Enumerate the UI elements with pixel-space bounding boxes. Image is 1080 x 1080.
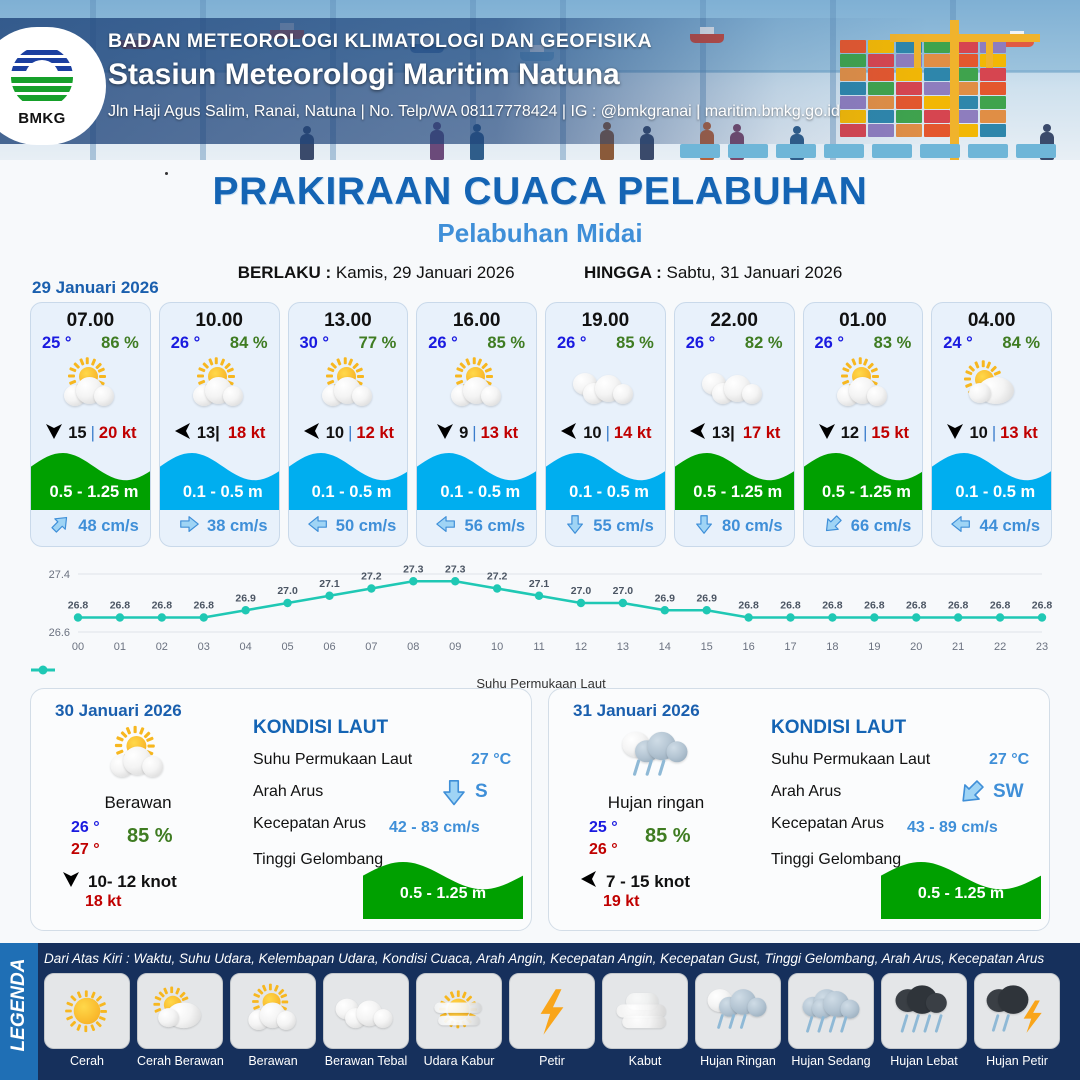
card-current-speed: 44 cm/s (980, 517, 1041, 536)
card-wind-speed: 13| (197, 424, 220, 443)
card-current-row: 66 cm/s (804, 513, 924, 540)
card-weather-icon-slot (160, 355, 279, 417)
day-current-arrow-slot (957, 777, 987, 812)
card-wind-speed: 13| (712, 424, 735, 443)
day-humidity: 85 % (645, 825, 691, 848)
hourly-card[interactable]: 10.0026 °84 %13|18 kt0.1 - 0.5 m38 cm/s (159, 302, 280, 547)
chart-legend-marker (30, 664, 56, 676)
daily-panel-31: 31 Januari 2026Hujan ringan25 °26 °85 %7… (548, 688, 1050, 931)
card-time: 07.00 (31, 310, 150, 332)
card-humidity: 82 % (745, 334, 783, 353)
card-temp-humidity: 26 °84 % (160, 332, 279, 353)
hourly-card[interactable]: 16.0026 °85 %9|13 kt0.1 - 0.5 m56 cm/s (416, 302, 537, 547)
svg-text:27.0: 27.0 (571, 585, 592, 597)
day-sea-label: Arah Arus (771, 783, 841, 801)
hujan-ringan-icon (704, 985, 772, 1036)
wind-direction-w-icon (302, 421, 322, 441)
svg-text:26.8: 26.8 (110, 600, 131, 612)
card-time: 19.00 (546, 310, 665, 332)
svg-text:26.8: 26.8 (822, 600, 843, 612)
bmkg-logo-text: BMKG (18, 110, 65, 127)
wind-direction-s-icon (44, 421, 64, 441)
svg-text:27.2: 27.2 (361, 571, 382, 583)
card-wave-height: 0.5 - 1.25 m (675, 483, 795, 502)
card-wind-speed: 12 (841, 424, 859, 443)
legend-item-label: Hujan Sedang (788, 1054, 874, 1068)
legend-item-label: Berawan Tebal (323, 1054, 409, 1068)
page-subtitle: Pelabuhan Midai (0, 218, 1080, 249)
svg-text:26.9: 26.9 (655, 592, 676, 604)
cerah-berawan-icon (183, 359, 255, 413)
current-direction-s-icon (564, 513, 586, 535)
current-direction-sw-icon (822, 513, 844, 535)
card-current-speed: 56 cm/s (465, 517, 526, 536)
legend-note: Dari Atas Kiri : Waktu, Suhu Udara, Kele… (44, 951, 1044, 966)
card-time: 13.00 (289, 310, 408, 332)
cerah-berawan-icon (441, 359, 513, 413)
current-direction-ne-icon (49, 513, 71, 535)
card-gust-speed: 12 kt (356, 424, 394, 443)
card-wind-row: 10|13 kt (932, 421, 1051, 446)
hourly-date-label: 29 Januari 2026 (32, 278, 159, 298)
card-humidity: 85 % (616, 334, 654, 353)
card-current-row: 56 cm/s (417, 513, 537, 540)
card-humidity: 84 % (1002, 334, 1040, 353)
card-weather-icon-slot (932, 355, 1051, 417)
day-gust-speed: 19 kt (603, 893, 639, 911)
card-wind-separator: | (472, 424, 476, 443)
agency-name: BADAN METEOROLOGI KLIMATOLOGI DAN GEOFIS… (108, 30, 840, 53)
card-wave-height: 0.1 - 0.5 m (932, 483, 1052, 502)
current-direction-sw-icon (957, 777, 987, 807)
card-wind-row: 12|15 kt (804, 421, 923, 446)
legend-section: LEGENDA Dari Atas Kiri : Waktu, Suhu Uda… (0, 943, 1080, 1080)
svg-text:26.6: 26.6 (49, 627, 70, 639)
card-temperature: 26 ° (171, 334, 201, 353)
legend-item: Hujan Ringan (695, 973, 781, 1068)
sea-temperature-chart: 27.426.626.80026.80126.80226.80326.90427… (30, 560, 1052, 680)
legend-item-icon-slot (416, 973, 502, 1049)
card-temperature: 26 ° (428, 334, 458, 353)
svg-text:26.8: 26.8 (948, 600, 969, 612)
card-wind-row: 13|17 kt (675, 421, 794, 446)
card-humidity: 85 % (487, 334, 525, 353)
day-condition: Berawan (53, 793, 223, 813)
wind-direction-w-icon (579, 869, 599, 889)
day-sst-value: 27 °C (989, 751, 1029, 769)
card-current-row: 38 cm/s (160, 513, 280, 540)
title-block: PRAKIRAAN CUACA PELABUHAN Pelabuhan Mida… (0, 170, 1080, 283)
card-wind-arrow-slot (559, 421, 579, 446)
svg-text:21: 21 (952, 641, 964, 653)
day-temp-min: 25 ° (589, 819, 618, 837)
card-wave-height: 0.1 - 0.5 m (289, 483, 409, 502)
card-temp-humidity: 25 °86 % (31, 332, 150, 353)
cerah-berawan-icon (239, 985, 307, 1036)
legend-item: Hujan Lebat (881, 973, 967, 1068)
legend-item: Udara Kabur (416, 973, 502, 1068)
card-temp-humidity: 26 °85 % (417, 332, 536, 353)
berawan-icon (332, 985, 400, 1036)
card-temp-humidity: 30 °77 % (289, 332, 408, 353)
day-sea-title: KONDISI LAUT (253, 717, 388, 739)
card-current-row: 55 cm/s (546, 513, 666, 540)
card-wind-arrow-slot (435, 421, 455, 446)
day-condition: Hujan ringan (571, 793, 741, 813)
card-wind-separator: | (992, 424, 996, 443)
legend-item: Cerah (44, 973, 130, 1068)
card-wind-arrow-slot (688, 421, 708, 446)
hourly-forecast-row: 07.0025 °86 %15|20 kt0.5 - 1.25 m48 cm/s… (30, 302, 1052, 547)
cerah-berawan-icon (100, 728, 176, 785)
legend-item-label: Cerah Berawan (137, 1054, 223, 1068)
card-wave-height: 0.1 - 0.5 m (546, 483, 666, 502)
card-temperature: 26 ° (686, 334, 716, 353)
card-temperature: 24 ° (943, 334, 973, 353)
svg-text:18: 18 (826, 641, 838, 653)
card-wind-speed: 10 (583, 424, 601, 443)
day-sea-label: Arah Arus (253, 783, 323, 801)
header-text-block: BADAN METEOROLOGI KLIMATOLOGI DAN GEOFIS… (108, 30, 840, 121)
card-temperature: 30 ° (300, 334, 330, 353)
wind-direction-s-icon (61, 869, 81, 889)
current-direction-s-icon (693, 513, 715, 535)
day-sea-label: Kecepatan Arus (771, 815, 884, 833)
day-current-speed-value: 43 - 89 cm/s (907, 819, 998, 837)
hourly-card[interactable]: 07.0025 °86 %15|20 kt0.5 - 1.25 m48 cm/s (30, 302, 151, 547)
hourly-card[interactable]: 01.0026 °83 %12|15 kt0.5 - 1.25 m66 cm/s (803, 302, 924, 547)
cerah-berawan-icon (312, 359, 384, 413)
card-current-speed: 38 cm/s (207, 517, 268, 536)
svg-text:15: 15 (701, 641, 713, 653)
day-date: 31 Januari 2026 (573, 701, 700, 721)
svg-text:27.3: 27.3 (445, 563, 466, 575)
day-weather-icon-slot (601, 725, 711, 787)
svg-text:06: 06 (323, 641, 335, 653)
svg-text:05: 05 (281, 641, 293, 653)
card-wind-row: 15|20 kt (31, 421, 150, 446)
svg-text:00: 00 (72, 641, 84, 653)
legend-item-icon-slot (974, 973, 1060, 1049)
kabut-icon (611, 985, 679, 1036)
valid-from-value: Kamis, 29 Januari 2026 (336, 263, 515, 282)
day-wind-row: 10- 12 knot (61, 869, 177, 894)
legend-item-label: Kabut (602, 1054, 688, 1068)
card-gust-speed: 20 kt (99, 424, 137, 443)
card-current-speed: 48 cm/s (78, 517, 139, 536)
hourly-card[interactable]: 19.0026 °85 %10|14 kt0.1 - 0.5 m55 cm/s (545, 302, 666, 547)
card-wave-height: 0.5 - 1.25 m (804, 483, 924, 502)
card-current-speed: 80 cm/s (722, 517, 783, 536)
card-weather-icon-slot (31, 355, 150, 417)
card-humidity: 83 % (874, 334, 912, 353)
day-humidity: 85 % (127, 825, 173, 848)
legend-item-icon-slot (695, 973, 781, 1049)
hujan-sedang-icon (797, 985, 865, 1036)
legend-items-row: CerahCerah BerawanBerawanBerawan TebalUd… (44, 973, 1074, 1068)
wind-direction-s-icon (435, 421, 455, 441)
card-gust-speed: 18 kt (228, 424, 266, 443)
card-wave-height: 0.1 - 0.5 m (160, 483, 280, 502)
day-wind-speed: 7 - 15 knot (606, 872, 690, 892)
station-name: Stasiun Meteorologi Maritim Natuna (108, 58, 840, 92)
legend-item-label: Hujan Ringan (695, 1054, 781, 1068)
bmkg-logo-mark (11, 46, 73, 108)
card-temperature: 26 ° (557, 334, 587, 353)
legend-item-icon-slot (44, 973, 130, 1049)
svg-text:02: 02 (156, 641, 168, 653)
svg-text:27.4: 27.4 (49, 569, 70, 581)
card-wave-height: 0.5 - 1.25 m (31, 483, 151, 502)
svg-text:27.3: 27.3 (403, 563, 424, 575)
daily-panel-30: 30 Januari 2026Berawan26 °27 °85 %10- 12… (30, 688, 532, 931)
berawan-icon (569, 359, 641, 413)
svg-text:07: 07 (365, 641, 377, 653)
card-temp-humidity: 24 °84 % (932, 332, 1051, 353)
current-direction-s-icon (439, 777, 469, 807)
card-current-arrow-slot (950, 513, 972, 540)
card-wind-arrow-slot (945, 421, 965, 446)
card-wind-arrow-slot (44, 421, 64, 446)
legend-item-icon-slot (788, 973, 874, 1049)
day-temp-min: 26 ° (71, 819, 100, 837)
legend-item-icon-slot (509, 973, 595, 1049)
current-direction-w-icon (307, 513, 329, 535)
hourly-card[interactable]: 13.0030 °77 %10|12 kt0.1 - 0.5 m50 cm/s (288, 302, 409, 547)
svg-text:11: 11 (533, 641, 544, 653)
sst-plot: 27.426.626.80026.80126.80226.80326.90427… (30, 560, 1052, 660)
wind-direction-s-icon (945, 421, 965, 441)
svg-text:27.1: 27.1 (529, 578, 550, 590)
page-title: PRAKIRAAN CUACA PELABUHAN (0, 170, 1080, 214)
card-wind-separator: | (348, 424, 352, 443)
legend-item: Cerah Berawan (137, 973, 223, 1068)
card-current-arrow-slot (178, 513, 200, 540)
legend-item-label: Udara Kabur (416, 1054, 502, 1068)
day-wind-speed: 10- 12 knot (88, 872, 177, 892)
svg-text:27.2: 27.2 (487, 571, 508, 583)
svg-text:14: 14 (659, 641, 671, 653)
svg-text:04: 04 (240, 641, 252, 653)
day-wave-height: 0.5 - 1.25 m (881, 885, 1041, 903)
svg-text:26.8: 26.8 (864, 600, 885, 612)
petir-icon (518, 985, 586, 1036)
card-current-speed: 66 cm/s (851, 517, 912, 536)
svg-text:08: 08 (407, 641, 419, 653)
valid-to-value: Sabtu, 31 Januari 2026 (667, 263, 843, 282)
card-weather-icon-slot (804, 355, 923, 417)
legend-item-label: Hujan Petir (974, 1054, 1060, 1068)
day-sst-value: 27 °C (471, 751, 511, 769)
hujan-ringan-icon (618, 728, 694, 785)
card-wind-row: 9|13 kt (417, 421, 536, 446)
legend-item: Petir (509, 973, 595, 1068)
udara-kabur-icon (425, 985, 493, 1036)
card-weather-icon-slot (675, 355, 794, 417)
svg-text:26.8: 26.8 (194, 600, 215, 612)
day-wind-arrow-slot (61, 869, 81, 894)
svg-text:26.8: 26.8 (906, 600, 927, 612)
valid-to-label: HINGGA : (584, 263, 662, 282)
card-weather-icon-slot (546, 355, 665, 417)
card-temperature: 26 ° (815, 334, 845, 353)
card-wind-speed: 15 (68, 424, 86, 443)
card-wind-speed: 9 (459, 424, 468, 443)
card-weather-icon-slot (289, 355, 408, 417)
hujan-lebat-icon (890, 985, 958, 1036)
card-current-arrow-slot (49, 513, 71, 540)
day-wind-arrow-slot (579, 869, 599, 894)
day-wave-height: 0.5 - 1.25 m (363, 885, 523, 903)
day-temp-max: 27 ° (71, 841, 100, 859)
svg-text:10: 10 (491, 641, 503, 653)
svg-text:26.9: 26.9 (696, 592, 717, 604)
current-direction-w-icon (435, 513, 457, 535)
legend-item-icon-slot (602, 973, 688, 1049)
card-time: 10.00 (160, 310, 279, 332)
legend-item-label: Hujan Lebat (881, 1054, 967, 1068)
card-current-row: 50 cm/s (289, 513, 409, 540)
card-gust-speed: 13 kt (481, 424, 519, 443)
svg-text:12: 12 (575, 641, 587, 653)
cerah-berawan-tipis-icon (146, 985, 214, 1036)
cerah-icon (53, 985, 121, 1036)
card-current-row: 48 cm/s (31, 513, 151, 540)
valid-from-label: BERLAKU : (238, 263, 332, 282)
legend-item: Hujan Sedang (788, 973, 874, 1068)
card-wind-row: 13|18 kt (160, 421, 279, 446)
card-wind-row: 10|14 kt (546, 421, 665, 446)
card-time: 22.00 (675, 310, 794, 332)
svg-text:27.0: 27.0 (277, 585, 298, 597)
card-temp-humidity: 26 °83 % (804, 332, 923, 353)
current-direction-w-icon (950, 513, 972, 535)
card-temp-humidity: 26 °82 % (675, 332, 794, 353)
card-wave-height: 0.1 - 0.5 m (417, 483, 537, 502)
card-gust-speed: 15 kt (871, 424, 909, 443)
card-time: 16.00 (417, 310, 536, 332)
card-current-row: 80 cm/s (675, 513, 795, 540)
card-current-arrow-slot (435, 513, 457, 540)
day-temp-max: 26 ° (589, 841, 618, 859)
card-current-arrow-slot (307, 513, 329, 540)
day-weather-icon-slot (83, 725, 193, 787)
svg-text:26.8: 26.8 (1032, 600, 1052, 612)
card-wind-separator: | (91, 424, 95, 443)
day-current-arrow-slot (439, 777, 469, 812)
card-wind-speed: 10 (326, 424, 344, 443)
card-current-arrow-slot (822, 513, 844, 540)
legend-side-band: LEGENDA (0, 943, 38, 1080)
day-sea-label: Suhu Permukaan Laut (771, 751, 930, 769)
svg-text:23: 23 (1036, 641, 1048, 653)
card-temperature: 25 ° (42, 334, 72, 353)
legend-item: Berawan (230, 973, 316, 1068)
legend-item-icon-slot (230, 973, 316, 1049)
card-wind-arrow-slot (302, 421, 322, 446)
day-current-dir-value: S (475, 781, 488, 803)
card-current-row: 44 cm/s (932, 513, 1052, 540)
card-wind-speed: 10 (969, 424, 987, 443)
day-current-dir-value: SW (993, 781, 1024, 803)
svg-text:22: 22 (994, 641, 1006, 653)
legend-side-label: LEGENDA (8, 950, 30, 1060)
wind-direction-s-icon (817, 421, 837, 441)
berawan-icon (698, 359, 770, 413)
svg-text:26.8: 26.8 (152, 600, 173, 612)
card-wind-row: 10|12 kt (289, 421, 408, 446)
hourly-card[interactable]: 22.0026 °82 %13|17 kt0.5 - 1.25 m80 cm/s (674, 302, 795, 547)
legend-item-icon-slot (881, 973, 967, 1049)
card-current-arrow-slot (693, 513, 715, 540)
svg-text:27.0: 27.0 (613, 585, 634, 597)
card-gust-speed: 14 kt (614, 424, 652, 443)
cerah-berawan-icon (827, 359, 899, 413)
card-humidity: 77 % (359, 334, 397, 353)
legend-item-icon-slot (323, 973, 409, 1049)
day-sea-title: KONDISI LAUT (771, 717, 906, 739)
hourly-card[interactable]: 04.0024 °84 %10|13 kt0.1 - 0.5 m44 cm/s (931, 302, 1052, 547)
contact-line: Jln Haji Agus Salim, Ranai, Natuna | No.… (108, 103, 840, 121)
svg-text:26.8: 26.8 (780, 600, 801, 612)
svg-text:03: 03 (198, 641, 210, 653)
svg-text:27.1: 27.1 (319, 578, 340, 590)
card-wind-separator: | (606, 424, 610, 443)
svg-text:13: 13 (617, 641, 629, 653)
page-header: BMKG BADAN METEOROLOGI KLIMATOLOGI DAN G… (0, 0, 1080, 160)
card-wind-arrow-slot (173, 421, 193, 446)
svg-text:19: 19 (868, 641, 880, 653)
svg-text:09: 09 (449, 641, 461, 653)
wind-direction-w-icon (688, 421, 708, 441)
card-weather-icon-slot (417, 355, 536, 417)
card-humidity: 86 % (101, 334, 139, 353)
svg-text:26.8: 26.8 (990, 600, 1011, 612)
chart-legend: Suhu Permukaan Laut (30, 664, 1052, 691)
card-current-arrow-slot (564, 513, 586, 540)
validity-line: BERLAKU : Kamis, 29 Januari 2026 HINGGA … (0, 263, 1080, 283)
svg-text:20: 20 (910, 641, 922, 653)
svg-text:01: 01 (114, 641, 126, 653)
card-time: 01.00 (804, 310, 923, 332)
card-time: 04.00 (932, 310, 1051, 332)
wind-direction-w-icon (559, 421, 579, 441)
svg-text:16: 16 (742, 641, 754, 653)
svg-text:17: 17 (784, 641, 796, 653)
cerah-berawan-icon (54, 359, 126, 413)
cerah-berawan-tipis-icon (956, 359, 1028, 413)
card-gust-speed: 17 kt (743, 424, 781, 443)
card-humidity: 84 % (230, 334, 268, 353)
card-current-speed: 55 cm/s (593, 517, 654, 536)
legend-item-icon-slot (137, 973, 223, 1049)
legend-item-label: Berawan (230, 1054, 316, 1068)
legend-item: Berawan Tebal (323, 973, 409, 1068)
svg-text:26.8: 26.8 (68, 600, 89, 612)
card-wind-separator: | (863, 424, 867, 443)
legend-item: Hujan Petir (974, 973, 1060, 1068)
legend-item-label: Cerah (44, 1054, 130, 1068)
day-current-speed-value: 42 - 83 cm/s (389, 819, 480, 837)
card-current-speed: 50 cm/s (336, 517, 397, 536)
day-sea-label: Kecepatan Arus (253, 815, 366, 833)
card-gust-speed: 13 kt (1000, 424, 1038, 443)
legend-item: Kabut (602, 973, 688, 1068)
day-date: 30 Januari 2026 (55, 701, 182, 721)
card-temp-humidity: 26 °85 % (546, 332, 665, 353)
day-gust-speed: 18 kt (85, 893, 121, 911)
legend-item-label: Petir (509, 1054, 595, 1068)
